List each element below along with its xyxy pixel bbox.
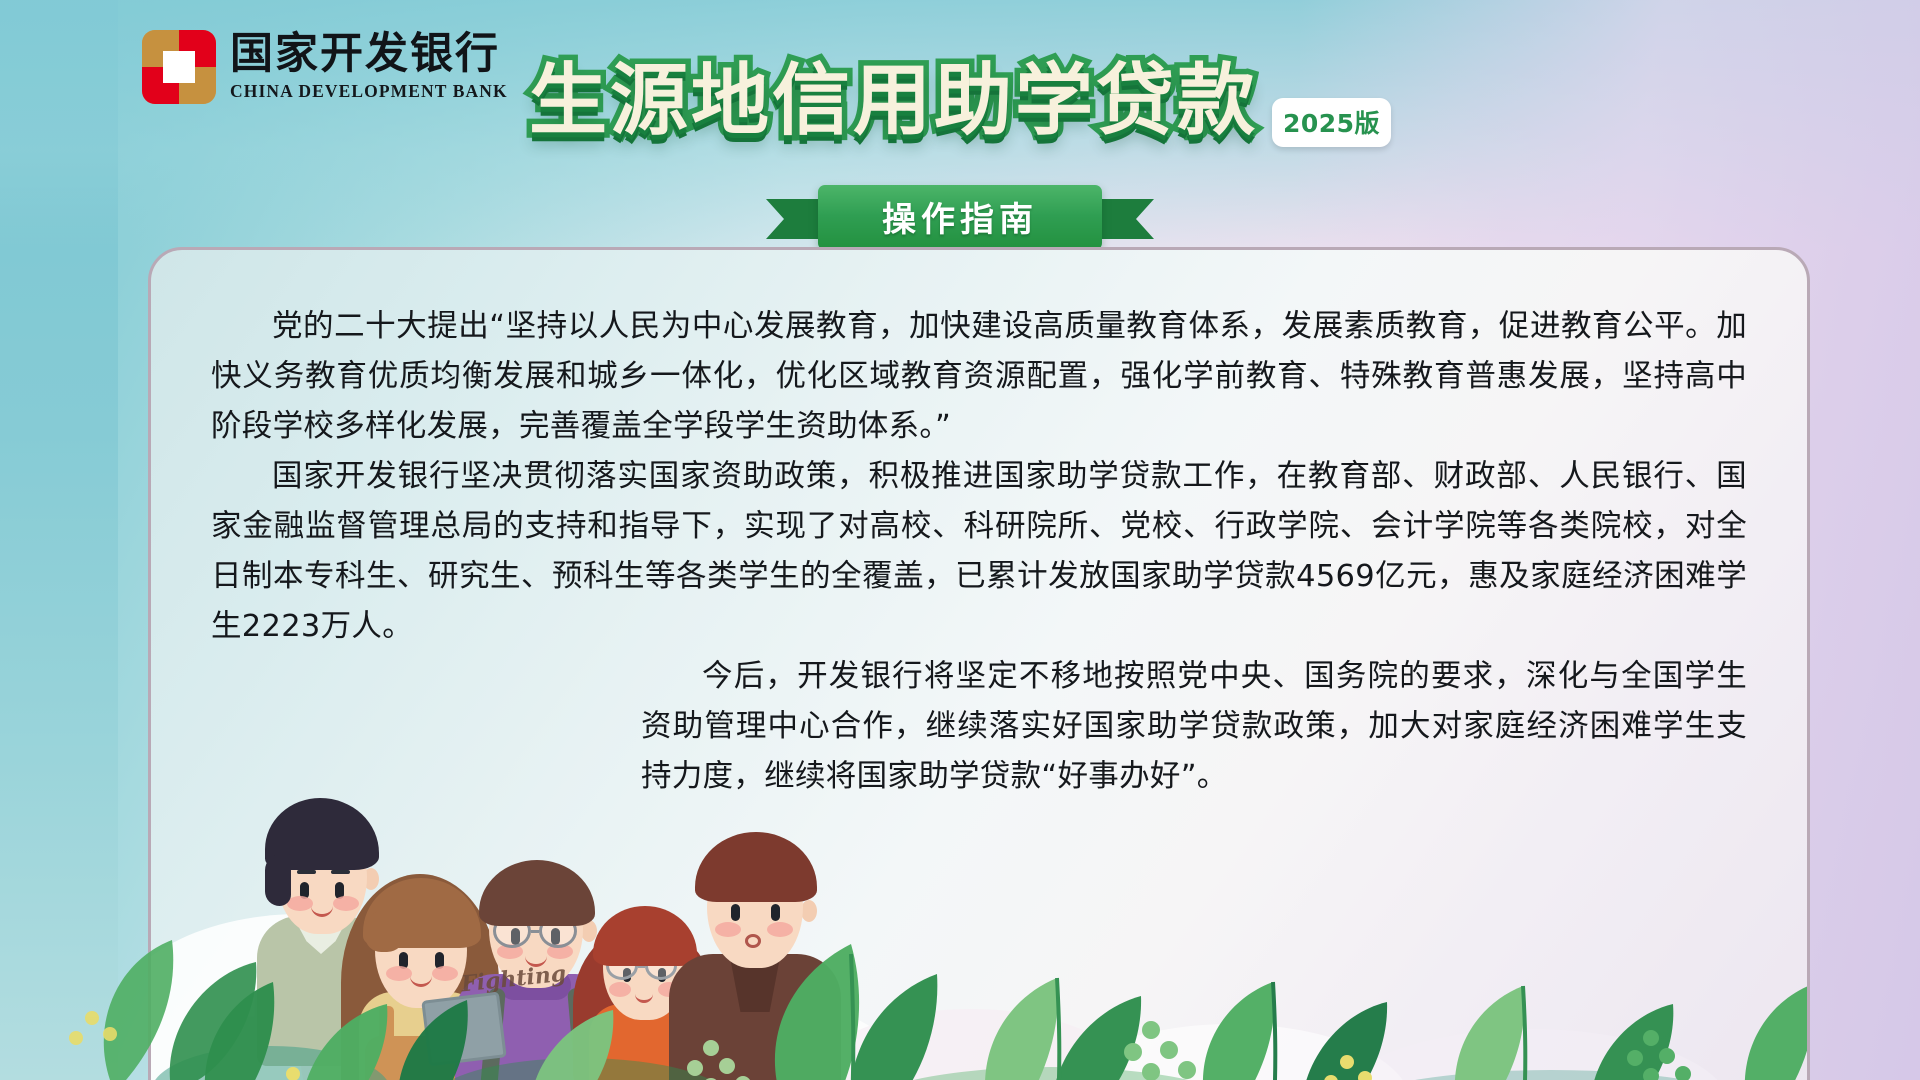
outer-foliage-decoration xyxy=(40,780,340,1080)
cloud-blobs-decoration xyxy=(151,764,1810,1080)
ribbon-label: 操作指南 xyxy=(882,192,1038,241)
content-card: 党的二十大提出“坚持以人民为中心发展教育，加快建设高质量教育体系，发展素质教育，… xyxy=(148,247,1810,1080)
title-inner: 生源地信用助学贷款 2025版 xyxy=(529,58,1391,147)
title-zone: 生源地信用助学贷款 2025版 xyxy=(0,58,1920,147)
paragraph-cdb-achievements: 国家开发银行坚决贯彻落实国家资助政策，积极推进国家助学贷款工作，在教育部、财政部… xyxy=(211,452,1747,652)
page-title: 生源地信用助学贷款 xyxy=(529,58,1258,145)
ribbon-body: 操作指南 xyxy=(818,185,1102,250)
poster-root: 国家开发银行 CHINA DEVELOPMENT BANK 生源地信用助学贷款 … xyxy=(0,0,1920,1080)
subtitle-ribbon: 操作指南 xyxy=(818,188,1102,246)
paragraph-policy-quote: 党的二十大提出“坚持以人民为中心发展教育，加快建设高质量教育体系，发展素质教育，… xyxy=(211,302,1747,452)
ribbon-zone: 操作指南 xyxy=(0,188,1920,246)
card-text-block: 党的二十大提出“坚持以人民为中心发展教育，加快建设高质量教育体系，发展素质教育，… xyxy=(151,250,1807,802)
version-badge: 2025版 xyxy=(1272,98,1391,147)
